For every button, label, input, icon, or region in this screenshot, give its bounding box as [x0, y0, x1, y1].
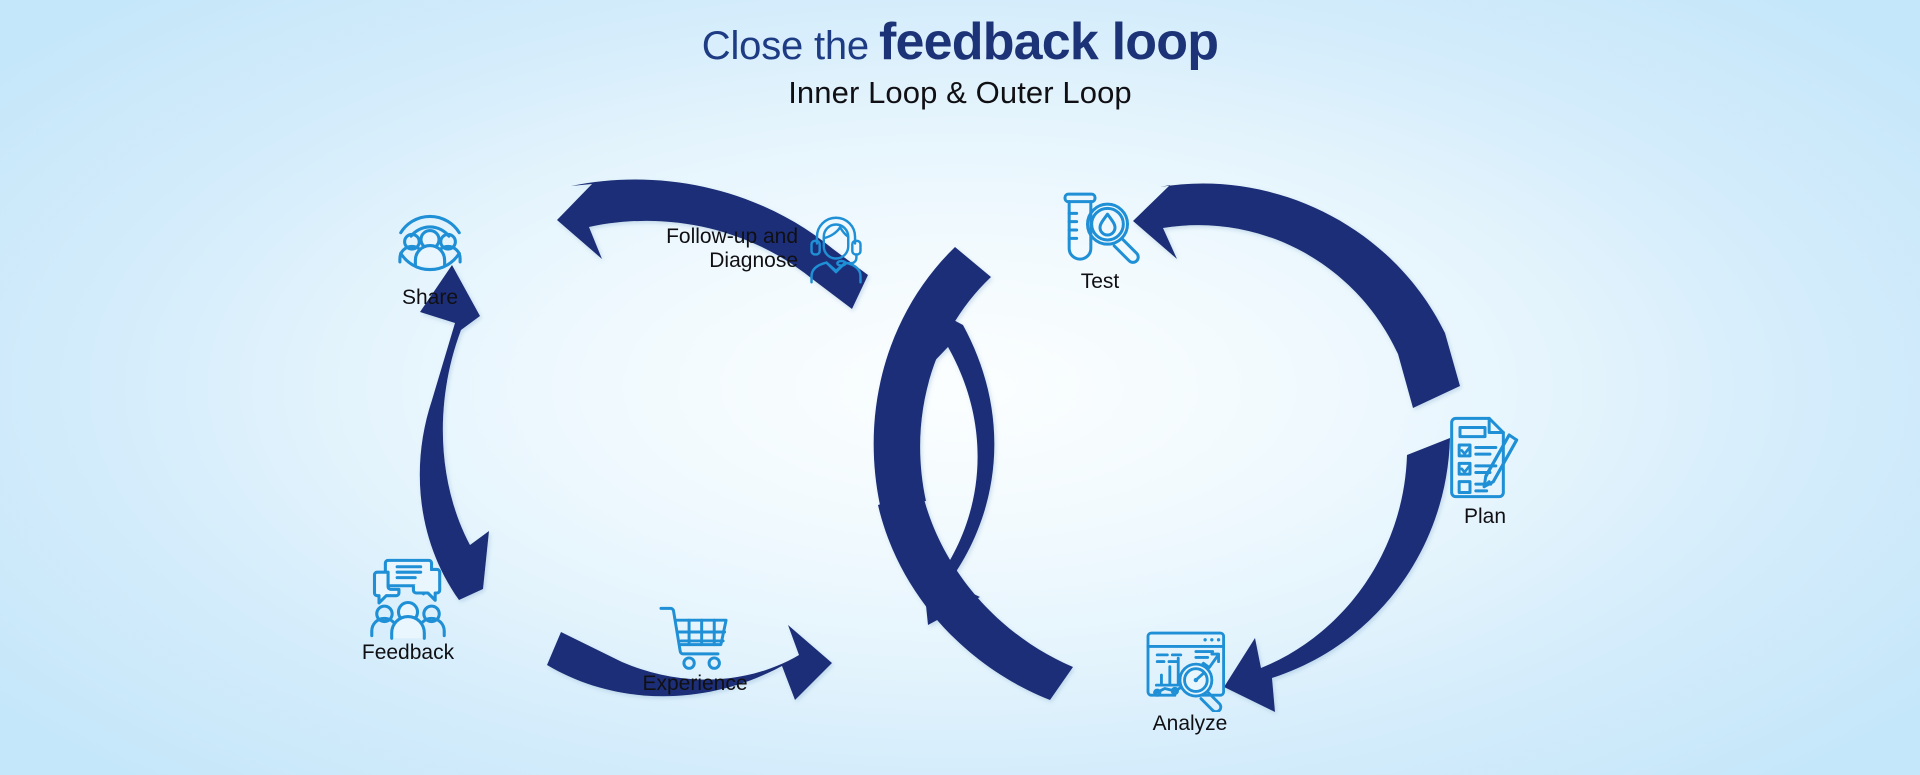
- node-plan-label: Plan: [1395, 505, 1575, 529]
- test-tube-magnifier-icon: [1054, 190, 1146, 270]
- node-analyze[interactable]: Analyze: [1095, 628, 1285, 736]
- node-experience-label: Experience: [600, 672, 790, 696]
- infographic-canvas: Close thefeedback loop Inner Loop & Oute…: [0, 0, 1920, 775]
- speech-bubbles-people-icon: [358, 545, 458, 641]
- checklist-pencil-icon: [1443, 415, 1527, 505]
- node-plan[interactable]: Plan: [1395, 415, 1575, 529]
- node-experience[interactable]: Experience: [600, 598, 790, 696]
- node-followup-and-diagnose[interactable]: Follow-up and Diagnose: [640, 213, 870, 285]
- node-analyze-label: Analyze: [1095, 712, 1285, 736]
- loop-arrows-diagram: [0, 0, 1920, 775]
- node-share-label: Share: [340, 286, 520, 310]
- node-test-label: Test: [1015, 270, 1185, 294]
- node-feedback-label: Feedback: [318, 641, 498, 665]
- node-feedback[interactable]: Feedback: [318, 545, 498, 665]
- support-agent-headset-icon: [802, 213, 870, 285]
- node-share[interactable]: Share: [340, 200, 520, 310]
- people-group-share-icon: [387, 200, 473, 286]
- dashboard-chart-magnifier-icon: [1142, 628, 1238, 712]
- shopping-cart-icon: [656, 598, 734, 672]
- node-followup-label: Follow-up and Diagnose: [640, 225, 798, 272]
- node-test[interactable]: Test: [1015, 190, 1185, 294]
